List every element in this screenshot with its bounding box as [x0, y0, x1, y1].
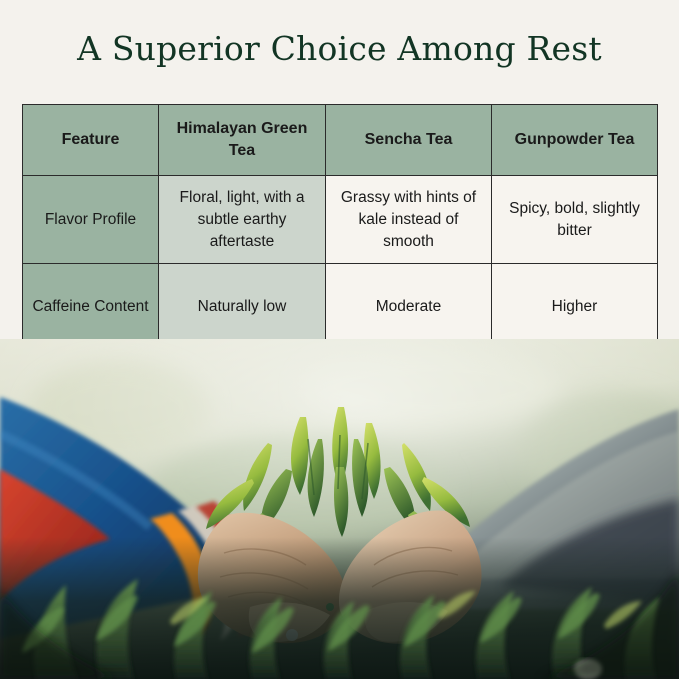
- comparison-table-container: Feature Himalayan Green Tea Sencha Tea G…: [22, 104, 657, 323]
- cell-sencha-caffeine: Moderate: [326, 264, 492, 350]
- column-header-feature: Feature: [23, 105, 159, 176]
- column-header-sencha: Sencha Tea: [326, 105, 492, 176]
- table-body: Flavor Profile Floral, light, with a sub…: [23, 176, 658, 350]
- tea-comparison-table: Feature Himalayan Green Tea Sencha Tea G…: [22, 104, 658, 350]
- tea-bushes-foreground: [0, 537, 679, 679]
- page-title: A Superior Choice Among Rest: [0, 27, 679, 71]
- table-header-row: Feature Himalayan Green Tea Sencha Tea G…: [23, 105, 658, 176]
- cell-feature-flavor: Flavor Profile: [23, 176, 159, 264]
- photo-illustration: [0, 339, 679, 679]
- column-header-gunpowder: Gunpowder Tea: [492, 105, 658, 176]
- cell-himalayan-caffeine: Naturally low: [159, 264, 326, 350]
- cell-gunpowder-caffeine: Higher: [492, 264, 658, 350]
- table-row: Caffeine Content Naturally low Moderate …: [23, 264, 658, 350]
- table-header: Feature Himalayan Green Tea Sencha Tea G…: [23, 105, 658, 176]
- page-root: A Superior Choice Among Rest Feature Him…: [0, 0, 679, 679]
- table-row: Flavor Profile Floral, light, with a sub…: [23, 176, 658, 264]
- cell-gunpowder-flavor: Spicy, bold, slightly bitter: [492, 176, 658, 264]
- cell-himalayan-flavor: Floral, light, with a subtle earthy afte…: [159, 176, 326, 264]
- cell-sencha-flavor: Grassy with hints of kale instead of smo…: [326, 176, 492, 264]
- column-header-himalayan: Himalayan Green Tea: [159, 105, 326, 176]
- cell-feature-caffeine: Caffeine Content: [23, 264, 159, 350]
- tea-harvest-photo: [0, 339, 679, 679]
